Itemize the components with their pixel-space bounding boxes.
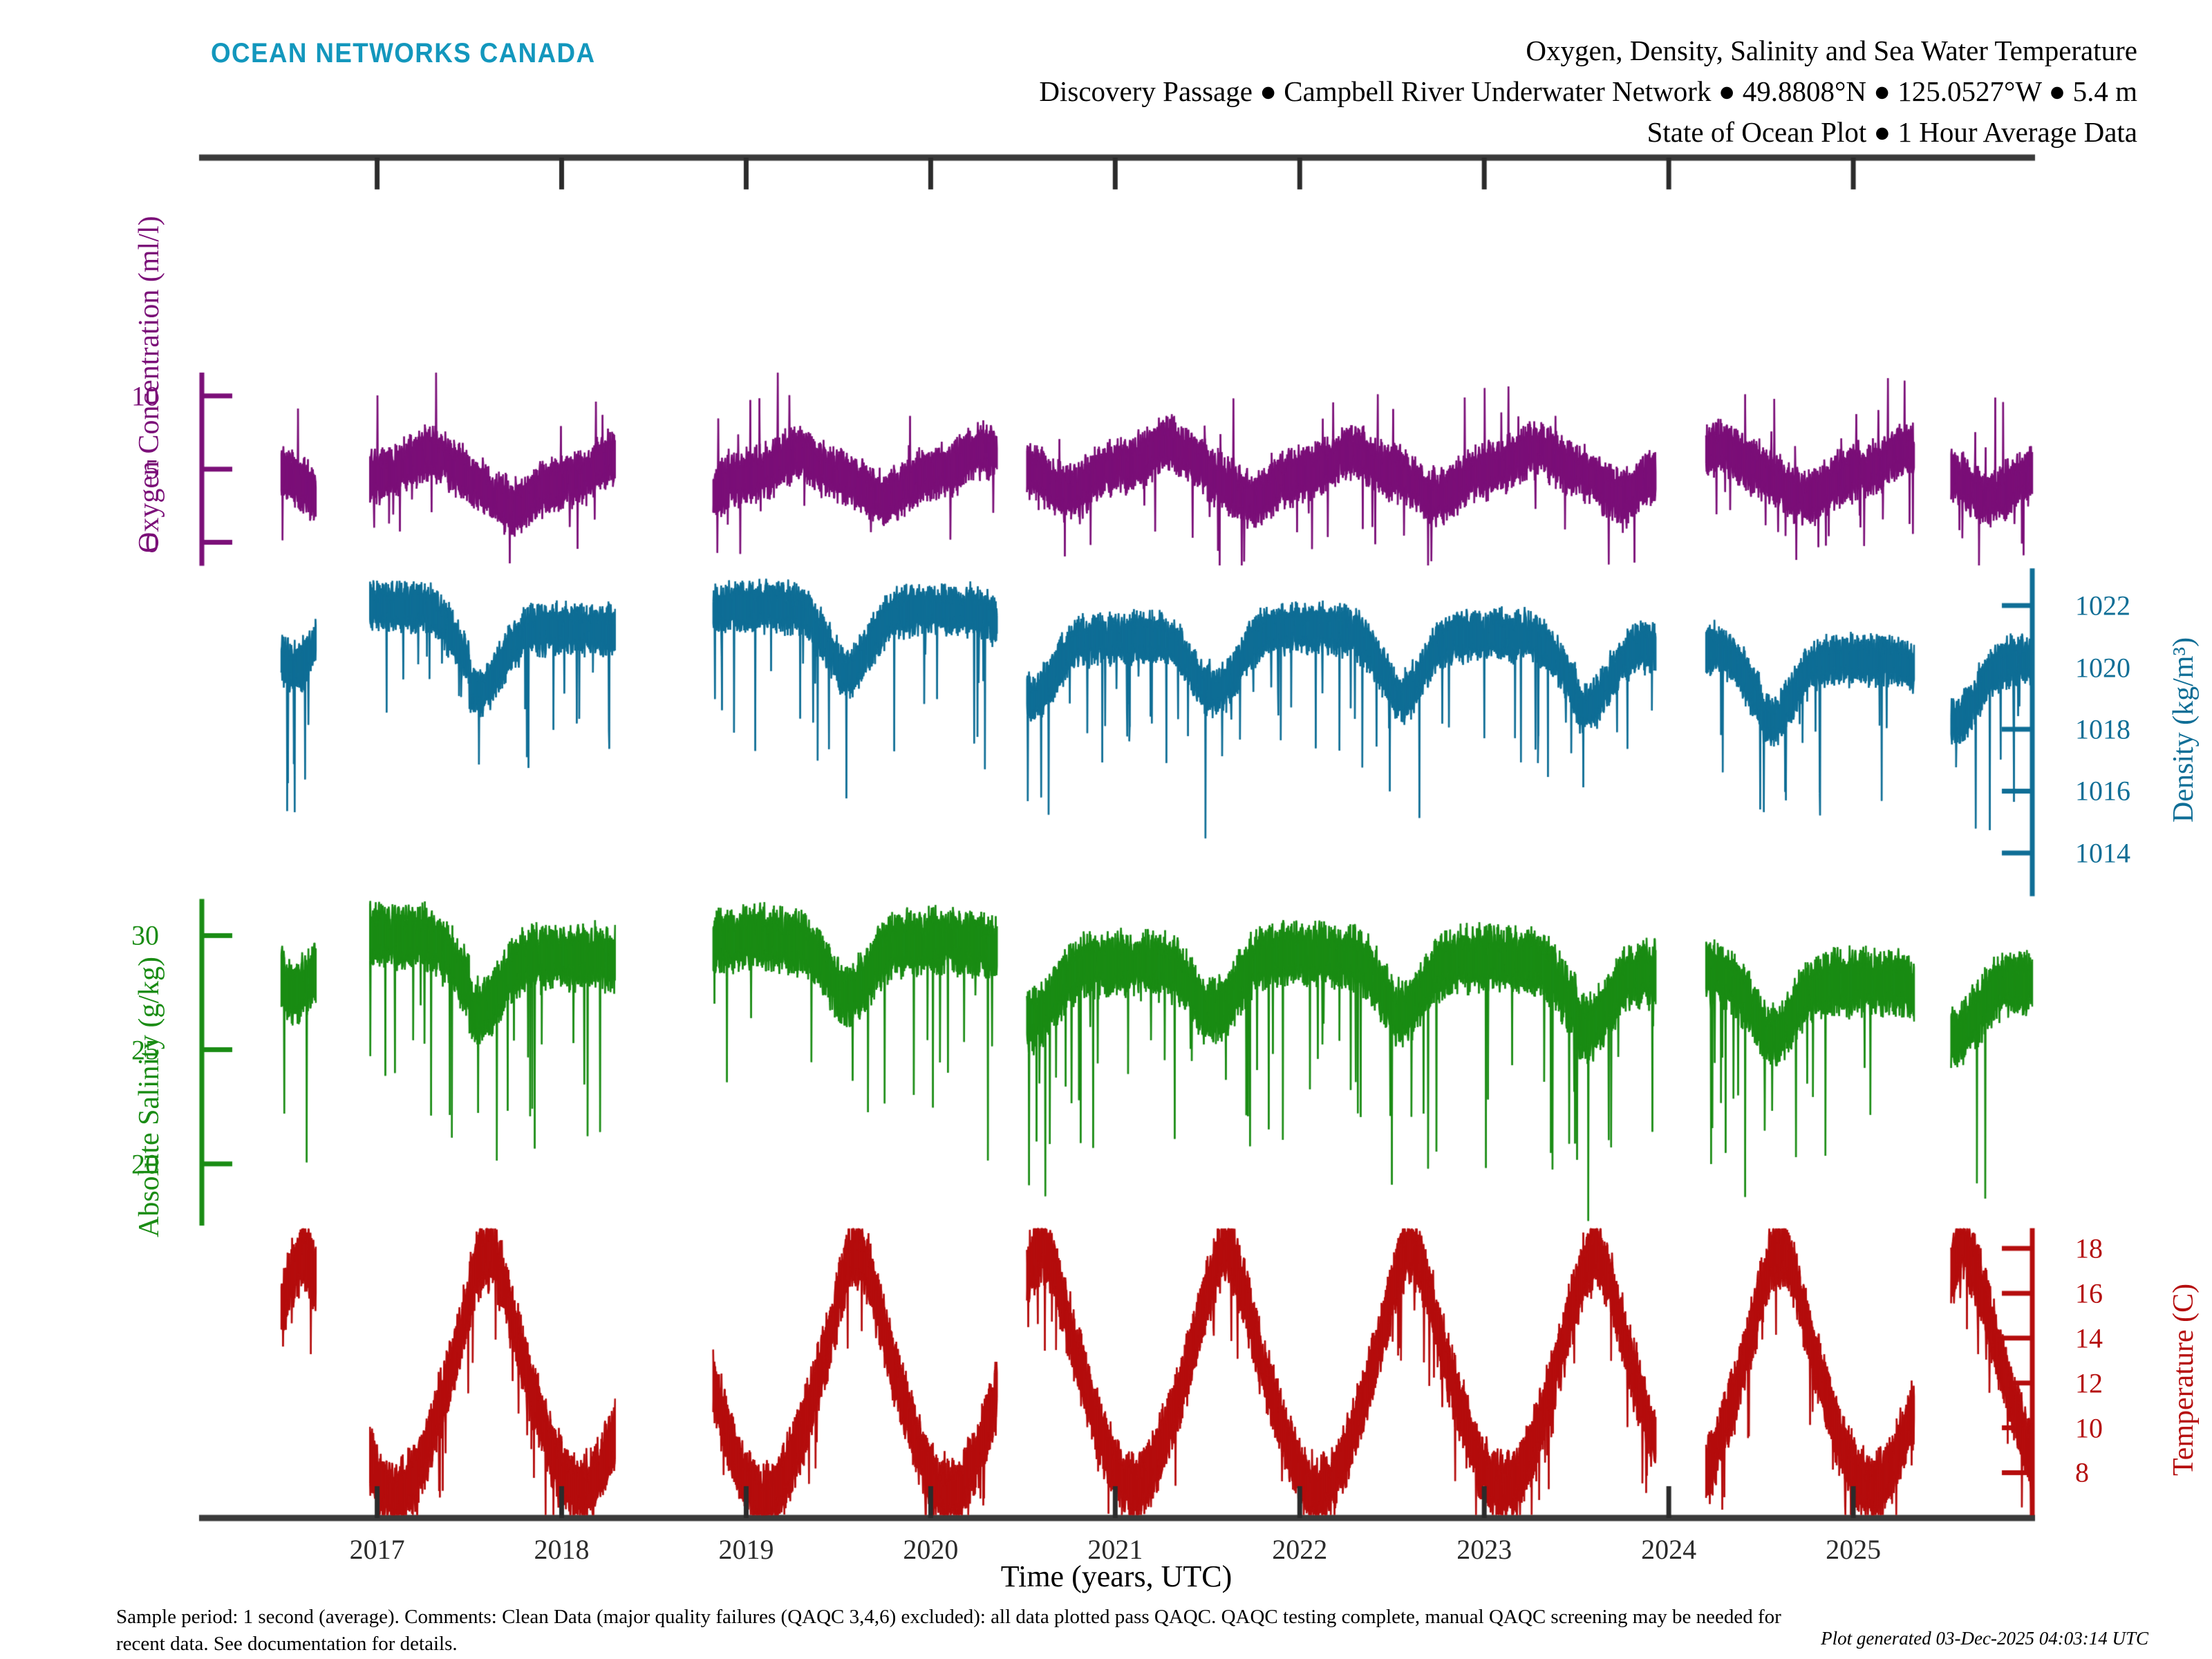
tick-label-density-1020: 1020 xyxy=(2075,651,2130,684)
timeseries-canvas xyxy=(0,0,2212,1659)
tick-label-oxygen-5: 5 xyxy=(0,453,159,485)
tick-label-salinity-30: 30 xyxy=(0,919,159,952)
tick-label-temperature-10: 10 xyxy=(2075,1412,2103,1444)
tick-label-year-2023: 2023 xyxy=(1456,1533,1512,1566)
tick-label-year-2017: 2017 xyxy=(350,1533,405,1566)
tick-label-temperature-12: 12 xyxy=(2075,1367,2103,1399)
tick-label-density-1022: 1022 xyxy=(2075,590,2130,622)
tick-label-oxygen-0: 0 xyxy=(0,526,159,559)
tick-label-temperature-16: 16 xyxy=(2075,1277,2103,1309)
axis-title-temperature: Temperature (C) xyxy=(2167,1284,2200,1476)
axis-title-density: Density (kg/m³) xyxy=(2167,637,2200,823)
tick-label-salinity-20: 20 xyxy=(0,1147,159,1180)
tick-label-year-2022: 2022 xyxy=(1272,1533,1327,1566)
tick-label-temperature-8: 8 xyxy=(2075,1456,2089,1489)
tick-label-oxygen-10: 10 xyxy=(0,379,159,412)
axis-title-salinity: Absolute Salinity (g/kg) xyxy=(133,957,166,1237)
tick-label-density-1018: 1018 xyxy=(2075,713,2130,746)
tick-label-temperature-18: 18 xyxy=(2075,1232,2103,1265)
tick-label-year-2024: 2024 xyxy=(1641,1533,1696,1566)
axis-title-time: Time (years, UTC) xyxy=(1001,1559,1232,1594)
tick-label-year-2020: 2020 xyxy=(903,1533,958,1566)
tick-label-density-1014: 1014 xyxy=(2075,836,2130,869)
tick-label-year-2018: 2018 xyxy=(534,1533,590,1566)
footer-note: Sample period: 1 second (average). Comme… xyxy=(116,1604,1824,1658)
tick-label-density-1016: 1016 xyxy=(2075,775,2130,807)
tick-label-year-2019: 2019 xyxy=(718,1533,774,1566)
footer-generated: Plot generated 03-Dec-2025 04:03:14 UTC xyxy=(1821,1628,2148,1649)
tick-label-year-2025: 2025 xyxy=(1826,1533,1881,1566)
tick-label-temperature-14: 14 xyxy=(2075,1322,2103,1354)
tick-label-salinity-25: 25 xyxy=(0,1033,159,1066)
chart-plot-area: Oxygen Concentration (ml/l) Absolute Sal… xyxy=(0,0,2212,1659)
